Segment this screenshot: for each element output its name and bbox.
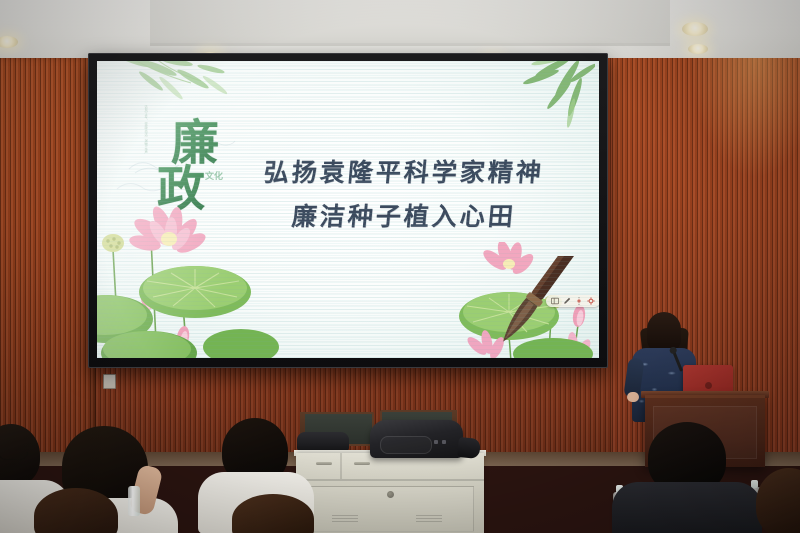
attendee-edge-right-head xyxy=(756,468,800,533)
bamboo-decoration-top-right xyxy=(475,61,595,129)
lotus-bloom-main xyxy=(128,204,209,257)
left-wall-panels xyxy=(0,58,96,458)
wall-switch[interactable] xyxy=(103,374,116,389)
lotus-decoration-bottom-left xyxy=(97,187,301,358)
lotus-pad-right xyxy=(203,329,279,358)
laptop-logo xyxy=(705,382,712,389)
presentation-room-photo: 清风正气 崇廉尚洁 润物无声 廉 政 文化 弘扬袁隆平科学家精神 廉洁种子植入心… xyxy=(0,0,800,533)
small-bag-on-chair[interactable] xyxy=(297,432,349,451)
backpack[interactable] xyxy=(370,420,463,458)
presenter-hair xyxy=(647,312,681,352)
backpack-clip-left xyxy=(434,440,438,444)
cabinet-vent-right xyxy=(416,515,442,523)
led-screen-frame: 清风正气 崇廉尚洁 润物无声 廉 政 文化 弘扬袁隆平科学家精神 廉洁种子植入心… xyxy=(88,53,608,368)
laser-pointer-icon[interactable] xyxy=(575,297,583,305)
options-gear-icon[interactable] xyxy=(587,297,595,305)
led-screen-surface[interactable]: 清风正气 崇廉尚洁 润物无声 廉 政 文化 弘扬袁隆平科学家精神 廉洁种子植入心… xyxy=(97,61,599,358)
cabinet-handle-right[interactable] xyxy=(354,462,370,465)
ceiling-lip xyxy=(150,43,670,46)
backpack-pocket xyxy=(380,436,432,454)
downlight-7 xyxy=(688,44,708,54)
seal-column-3: 润物无声 xyxy=(143,139,148,154)
ceiling-recess xyxy=(150,0,670,44)
lotus-pad-main xyxy=(139,266,251,318)
banner-subtitle: 文化 xyxy=(205,173,223,182)
storage-cabinet[interactable] xyxy=(296,453,484,533)
ppt-presenter-toolbar[interactable] xyxy=(546,295,599,307)
cabinet-handle-left[interactable] xyxy=(316,462,332,465)
attendee-left-glasses-eyewear xyxy=(0,452,28,460)
seal-column-1: 清风正气 xyxy=(143,105,148,120)
pen-icon[interactable] xyxy=(563,297,571,305)
cabinet-seam xyxy=(296,479,484,481)
presenter-hand xyxy=(627,392,639,402)
attendee-right-dark-torso xyxy=(612,482,762,533)
seal-inscription: 清风正气 崇廉尚洁 润物无声 xyxy=(143,105,148,155)
seal-column-2: 崇廉尚洁 xyxy=(143,122,148,137)
cabinet-lid-split xyxy=(340,453,342,479)
backpack-clip-right xyxy=(442,440,446,444)
downlight-6 xyxy=(682,22,708,36)
attendee-center-white-bottle xyxy=(128,486,140,516)
cabinet-lock[interactable] xyxy=(387,491,394,498)
slide-view-icon[interactable] xyxy=(551,297,559,305)
cabinet-vent-left xyxy=(332,515,358,523)
slide-title-line-1: 弘扬袁隆平科学家精神 xyxy=(237,153,570,189)
